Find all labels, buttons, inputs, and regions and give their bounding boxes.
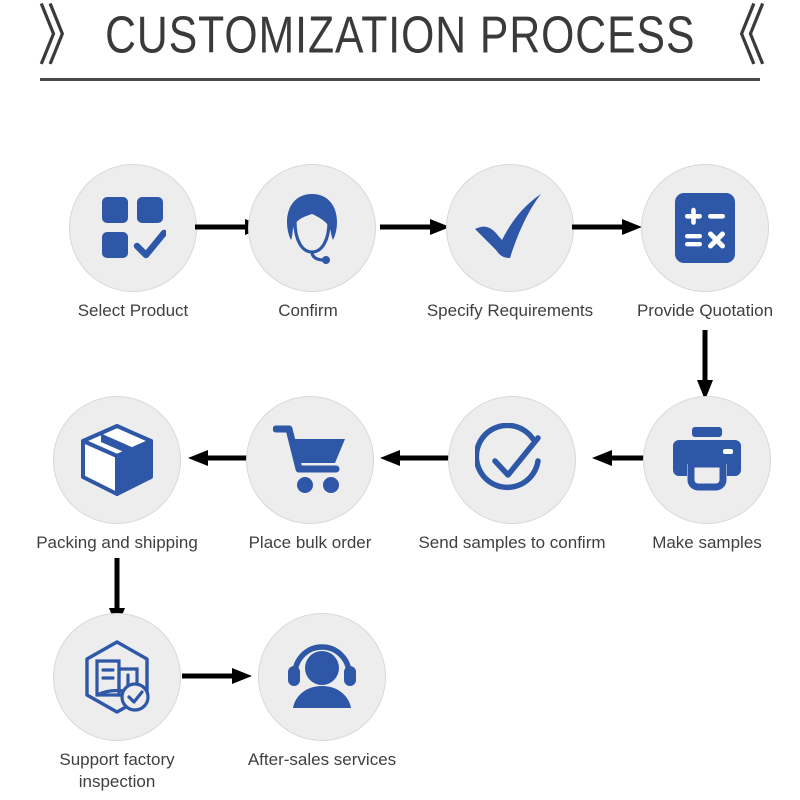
step-label: Provide Quotation [620, 300, 790, 322]
step-make-samples[interactable]: Make samples [633, 396, 781, 554]
step-send-samples-to-confirm[interactable]: Send samples to confirm [412, 396, 612, 554]
step-icon-circle [643, 396, 771, 524]
package-box-icon [81, 424, 153, 496]
step-icon-circle [69, 164, 197, 292]
step-icon-circle [248, 164, 376, 292]
page-header: 》 CUSTOMIZATION PROCESS 《 [0, 8, 800, 64]
header-divider [40, 78, 760, 81]
printer-icon [671, 427, 743, 493]
step-label: Packing and shipping [24, 532, 210, 554]
step-label: Send samples to confirm [412, 532, 612, 554]
step-provide-quotation[interactable]: Provide Quotation [620, 164, 790, 322]
headset-agent-icon [276, 192, 348, 264]
step-place-bulk-order[interactable]: Place bulk order [235, 396, 385, 554]
step-label: Select Product [48, 300, 218, 322]
checkmark-icon [471, 192, 549, 264]
step-icon-circle [258, 613, 386, 741]
step-label: After-sales services [232, 749, 412, 771]
step-packing-and-shipping[interactable]: Packing and shipping [24, 396, 210, 554]
customization-process-infographic: 》 CUSTOMIZATION PROCESS 《 Select Product [0, 0, 800, 800]
step-label: Specify Requirements [415, 300, 605, 322]
step-icon-circle [446, 164, 574, 292]
support-person-icon [286, 644, 358, 710]
arrow-quotation-to-make-samples [695, 330, 715, 402]
chevron-left-decoration: 》 [38, 3, 90, 69]
step-support-factory-inspection[interactable]: Support factory inspection [32, 613, 202, 793]
step-label: Make samples [633, 532, 781, 554]
calculator-icon [674, 192, 736, 264]
step-label: Support factory inspection [32, 749, 202, 793]
check-circle-icon [475, 423, 549, 497]
step-after-sales-services[interactable]: After-sales services [232, 613, 412, 771]
grid-check-icon [100, 195, 166, 261]
shopping-cart-icon [273, 425, 347, 495]
step-confirm[interactable]: Confirm [248, 164, 368, 322]
page-title: CUSTOMIZATION PROCESS [105, 5, 695, 66]
step-label: Confirm [248, 300, 368, 322]
step-specify-requirements[interactable]: Specify Requirements [415, 164, 605, 322]
step-icon-circle [53, 396, 181, 524]
step-icon-circle [448, 396, 576, 524]
step-icon-circle [53, 613, 181, 741]
step-label: Place bulk order [235, 532, 385, 554]
step-icon-circle [246, 396, 374, 524]
factory-inspection-icon [79, 639, 155, 715]
chevron-right-decoration: 《 [710, 3, 762, 69]
step-select-product[interactable]: Select Product [48, 164, 218, 322]
step-icon-circle [641, 164, 769, 292]
